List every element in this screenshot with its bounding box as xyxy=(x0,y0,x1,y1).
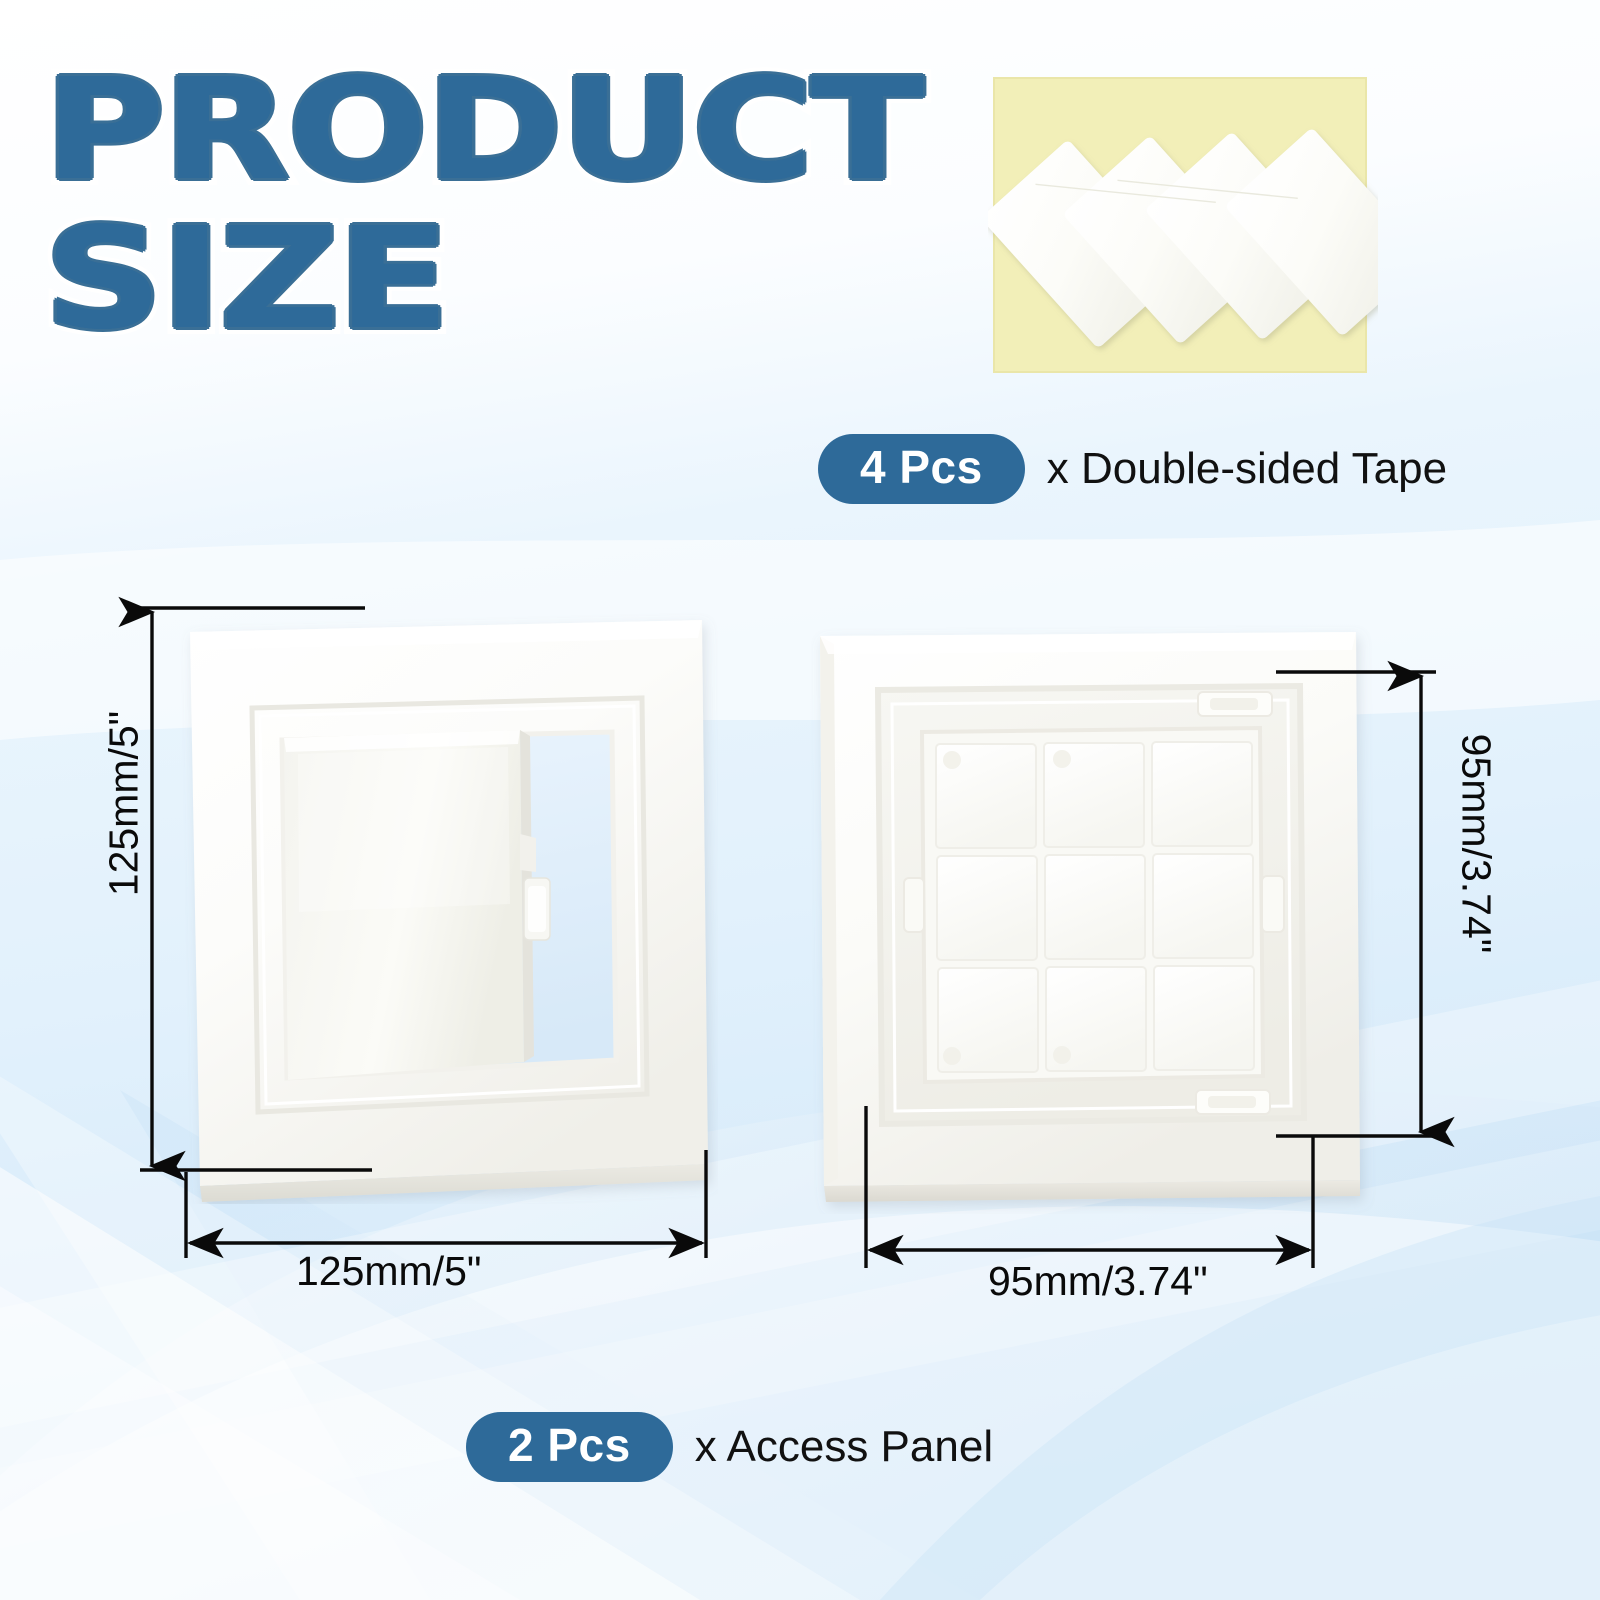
tape-label: x Double-sided Tape xyxy=(1047,444,1447,494)
back-panel-width-label: 95mm/3.74" xyxy=(988,1258,1208,1305)
panel-quantity-badge: 2 Pcs x Access Panel xyxy=(466,1412,993,1482)
access-panel-back-photo xyxy=(800,614,1380,1214)
title-line-size: SIZE xyxy=(44,211,1106,348)
tape-quantity-badge: 4 Pcs x Double-sided Tape xyxy=(818,434,1447,504)
tape-count-pill: 4 Pcs xyxy=(818,434,1025,504)
page-title: PRODUCT SIZE xyxy=(44,62,944,348)
panel-count-pill: 2 Pcs xyxy=(466,1412,673,1482)
back-panel-height-label: 95mm/3.74" xyxy=(1453,694,1500,994)
front-panel-height-label: 125mm/5" xyxy=(101,674,148,934)
front-panel-width-label: 125mm/5" xyxy=(296,1248,481,1295)
access-panel-front-photo xyxy=(168,604,718,1204)
title-line-product: PRODUCT xyxy=(44,62,1106,199)
panel-label: x Access Panel xyxy=(695,1422,993,1472)
